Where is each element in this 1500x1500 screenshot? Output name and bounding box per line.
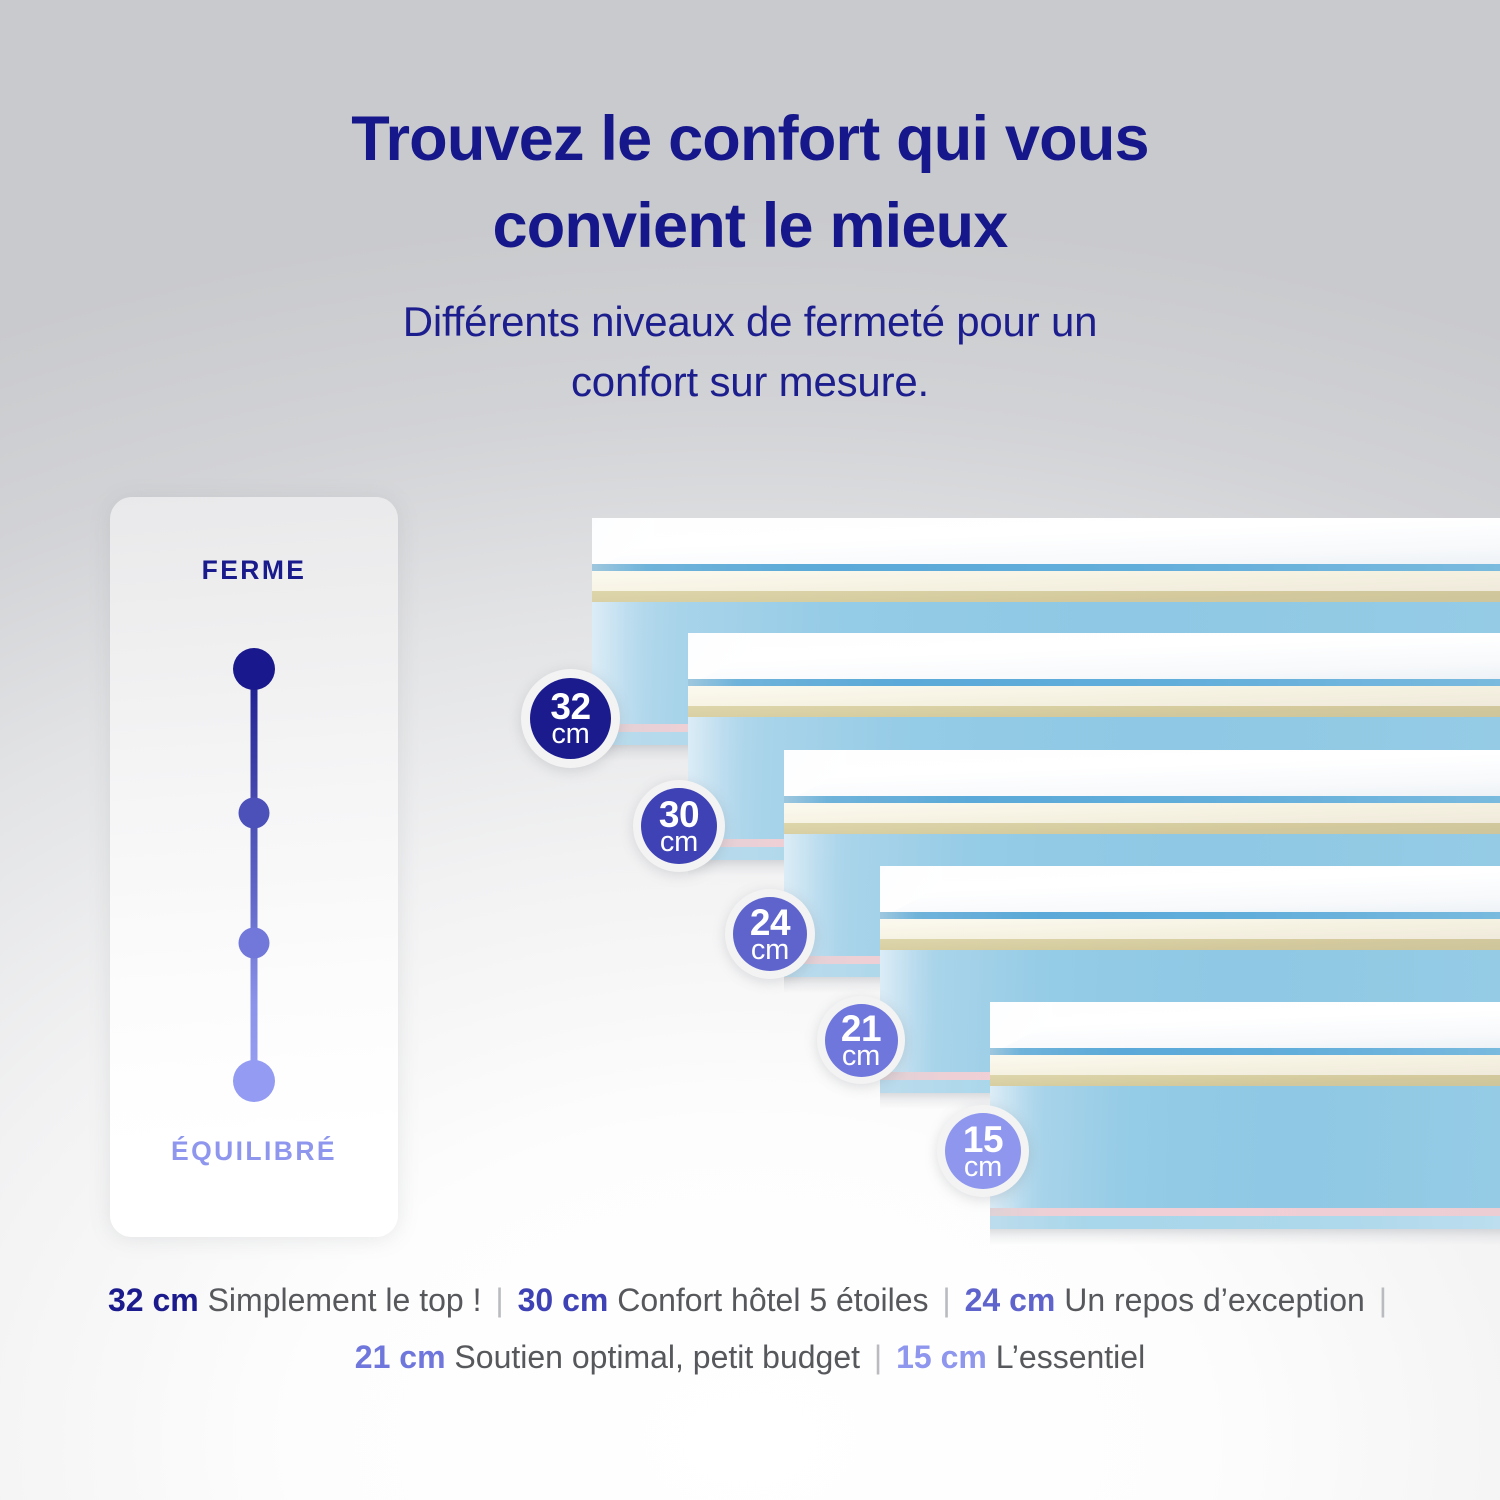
firmness-scale-card: FERME ÉQUILIBRÉ [110,497,398,1237]
badge-32cm-unit: cm [551,720,589,749]
caption-separator-4: | [869,1339,887,1375]
mattress-tan-layer [784,823,1500,834]
mattress-drop-shadow [990,1229,1500,1245]
mattress-top-cover [688,633,1500,679]
mattress-tan-layer [990,1075,1500,1086]
caption-size-30: 30 cm [518,1282,609,1318]
badge-30cm-disc: 30 cm [641,788,717,864]
headline-line-2: convient le mieux [0,183,1500,270]
mattress-top-bevel [784,750,846,796]
mattress-tan-layer [592,591,1500,602]
firmness-label-firm: FERME [110,555,398,586]
badge-30cm[interactable]: 30 cm [633,780,725,872]
mattress-top-bevel [592,518,654,564]
badge-21cm-disc: 21 cm [825,1004,898,1077]
caption-text-15: L’essentiel [996,1339,1145,1375]
mattress-top-cover [990,1002,1500,1048]
mattress-cream-layer [688,686,1500,706]
firmness-dot-firm[interactable] [233,648,275,690]
mattress-tan-layer [880,939,1500,950]
badge-15cm-disc: 15 cm [945,1113,1021,1189]
badge-24cm[interactable]: 24 cm [725,889,815,979]
caption: 32 cm Simplement le top ! | 30 cm Confor… [0,1272,1500,1386]
badge-32cm[interactable]: 32 cm [521,669,620,768]
mattress-blue-stripe [784,796,1500,803]
mattress-body [990,1086,1500,1208]
subtitle-line-1: Différents niveaux de fermeté pour un [0,292,1500,352]
firmness-scale [110,647,398,1107]
mattress-blue-stripe [592,564,1500,571]
mattress-cream-layer [990,1055,1500,1075]
caption-text-24-cont: d’exception [1203,1282,1365,1318]
mattress-base-layer [990,1216,1500,1229]
badge-30cm-unit: cm [660,828,698,857]
firmness-dot-2[interactable] [239,798,270,829]
mattress-blue-stripe [880,912,1500,919]
mattress-cream-layer [880,919,1500,939]
mattress-top-bevel [990,1002,1052,1048]
badge-21cm[interactable]: 21 cm [817,996,905,1084]
caption-text-32: Simplement le top ! [208,1282,482,1318]
mattress-top-cover [880,866,1500,912]
mattress-tan-layer [688,706,1500,717]
mattress-top-bevel [688,633,750,679]
firmness-dot-3[interactable] [239,928,270,959]
mattress-top-cover [784,750,1500,796]
badge-32cm-disc: 32 cm [530,678,611,759]
mattress-15cm [990,1002,1500,1230]
mattress-top-bevel [880,866,942,912]
caption-size-15: 15 cm [896,1339,987,1375]
mattress-pink-stripe [990,1208,1500,1216]
subtitle-line-2: confort sur mesure. [0,352,1500,412]
caption-size-24: 24 cm [965,1282,1056,1318]
caption-text-30: Confort hôtel 5 étoiles [617,1282,928,1318]
caption-separator-2: | [937,1282,955,1318]
header: Trouvez le confort qui vous convient le … [0,96,1500,413]
infographic-canvas: Trouvez le confort qui vous convient le … [0,0,1500,1500]
mattress-top-cover [592,518,1500,564]
firmness-scale-track [251,669,258,1089]
badge-15cm-unit: cm [964,1153,1002,1182]
badge-21cm-unit: cm [842,1042,880,1071]
mattress-blue-stripe [990,1048,1500,1055]
caption-separator-3: | [1374,1282,1392,1318]
badge-24cm-disc: 24 cm [733,897,807,971]
caption-text-21: Soutien optimal, petit budget [454,1339,860,1375]
mattress-blue-stripe [688,679,1500,686]
caption-size-32: 32 cm [108,1282,199,1318]
firmness-dot-balanced[interactable] [233,1060,275,1102]
mattress-cream-layer [784,803,1500,823]
caption-size-21: 21 cm [355,1339,446,1375]
page-title: Trouvez le confort qui vous convient le … [0,96,1500,270]
caption-separator-1: | [490,1282,508,1318]
mattress-cream-layer [592,571,1500,591]
headline-line-1: Trouvez le confort qui vous [0,96,1500,183]
firmness-label-balanced: ÉQUILIBRÉ [110,1136,398,1167]
page-subtitle: Différents niveaux de fermeté pour un co… [0,292,1500,413]
badge-15cm[interactable]: 15 cm [937,1105,1029,1197]
caption-text-24: Un repos [1064,1282,1194,1318]
badge-24cm-unit: cm [751,936,789,965]
